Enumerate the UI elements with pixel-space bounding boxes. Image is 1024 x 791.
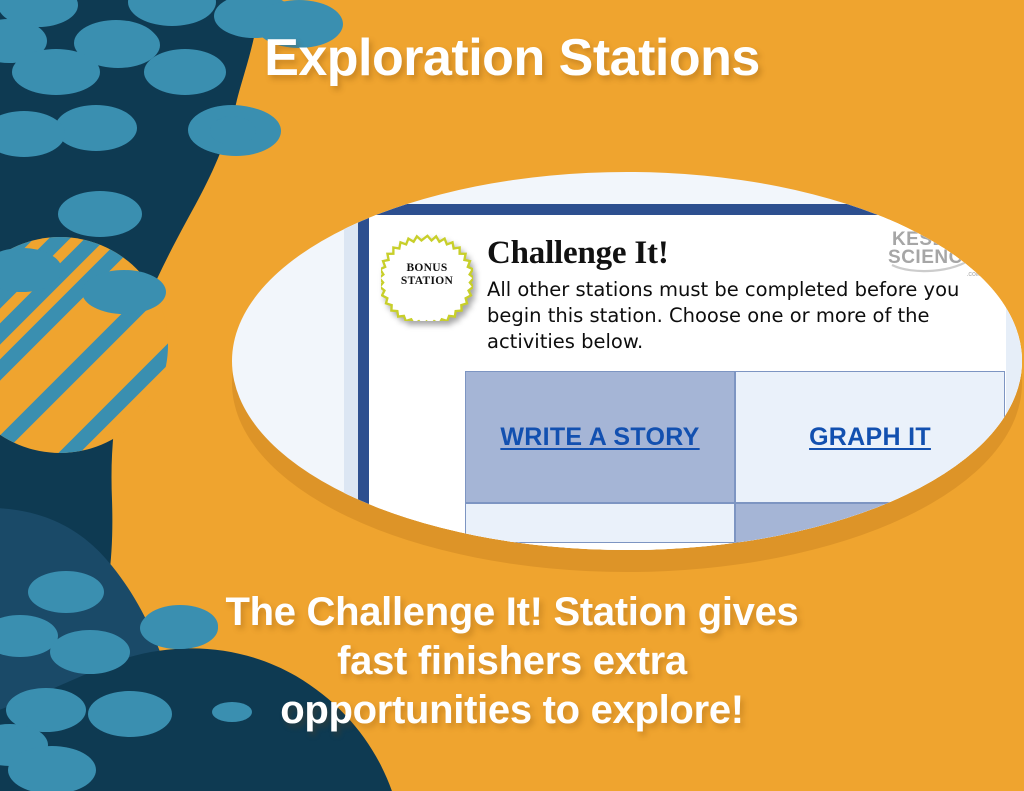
- caption-line-3: opportunities to explore!: [0, 686, 1024, 735]
- activity-cell-write-a-story[interactable]: WRITE A STORY: [465, 371, 735, 503]
- activity-link-graph-it[interactable]: GRAPH IT: [809, 423, 931, 452]
- table-row: WRITE A STORY GRAPH IT: [465, 371, 1005, 503]
- caption-line-2: fast finishers extra: [0, 637, 1024, 686]
- worksheet-instructions: All other stations must be completed bef…: [487, 277, 997, 355]
- logo-swoosh-icon: [882, 231, 982, 277]
- activity-cell-row2-right[interactable]: [735, 503, 1005, 543]
- card-left-border: [358, 204, 369, 514]
- card-left-strip: [344, 204, 358, 550]
- starburst-shape: [381, 236, 473, 321]
- worksheet-heading: Challenge It!: [487, 235, 669, 272]
- kesler-science-logo: KESLER SCIENCE .COM: [882, 231, 982, 277]
- worksheet-card: BONUS STATION KESLER SCIENCE .COM: [344, 204, 1022, 550]
- card-content: BONUS STATION KESLER SCIENCE .COM: [369, 215, 1006, 550]
- table-row: [465, 503, 1005, 543]
- activity-link-write-a-story[interactable]: WRITE A STORY: [500, 423, 699, 452]
- page-title: Exploration Stations: [0, 28, 1024, 88]
- slide-canvas: Exploration Stations BONUS STATION: [0, 0, 1024, 791]
- bonus-station-badge: BONUS STATION: [381, 229, 473, 321]
- card-top-border-taper: [1008, 204, 1022, 215]
- screenshot-oval-frame: BONUS STATION KESLER SCIENCE .COM: [232, 172, 1022, 550]
- caption-block: The Challenge It! Station gives fast fin…: [0, 588, 1024, 736]
- activity-cell-row2-left[interactable]: [465, 503, 735, 543]
- activities-table: WRITE A STORY GRAPH IT: [465, 371, 1005, 543]
- caption-line-1: The Challenge It! Station gives: [0, 588, 1024, 637]
- activity-cell-graph-it[interactable]: GRAPH IT: [735, 371, 1005, 503]
- card-top-border: [358, 204, 1008, 215]
- card-right-panel: [1006, 204, 1022, 550]
